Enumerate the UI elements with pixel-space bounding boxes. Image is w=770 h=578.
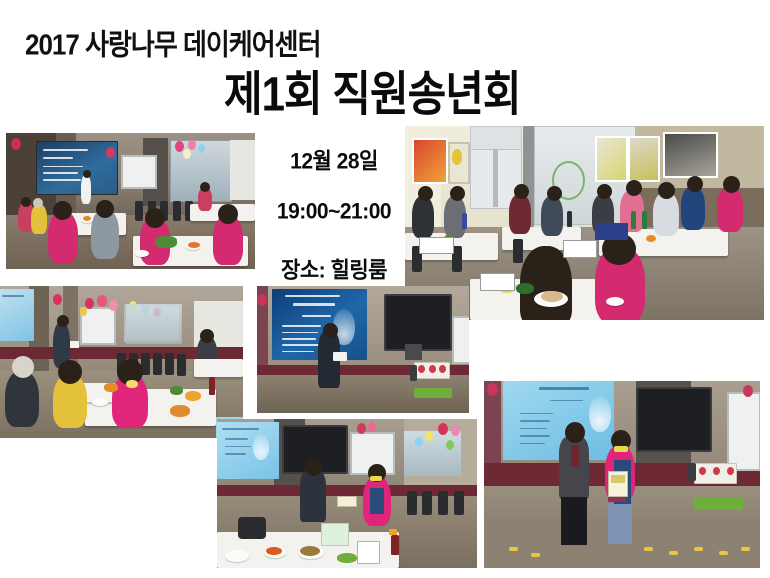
event-time: 19:00~21:00 (258, 199, 410, 224)
photo-speaker-presentation (0, 286, 243, 438)
event-info-block: 12월 28일 19:00~21:00 장소: 힐링룸 (258, 145, 410, 284)
event-date: 12월 28일 (258, 144, 410, 176)
photo-mc-on-stage (257, 286, 469, 413)
poster-main-title: 제1회 직원송년회 (224, 56, 521, 126)
event-poster: 2017 사랑나무 데이케어센터 제1회 직원송년회 12월 28일 19:00… (0, 0, 770, 578)
photo-banquet-room-wide (6, 133, 255, 269)
photo-award-handover (217, 419, 477, 568)
photo-award-portrait (484, 381, 760, 568)
event-place: 장소: 힐링룸 (258, 253, 410, 285)
